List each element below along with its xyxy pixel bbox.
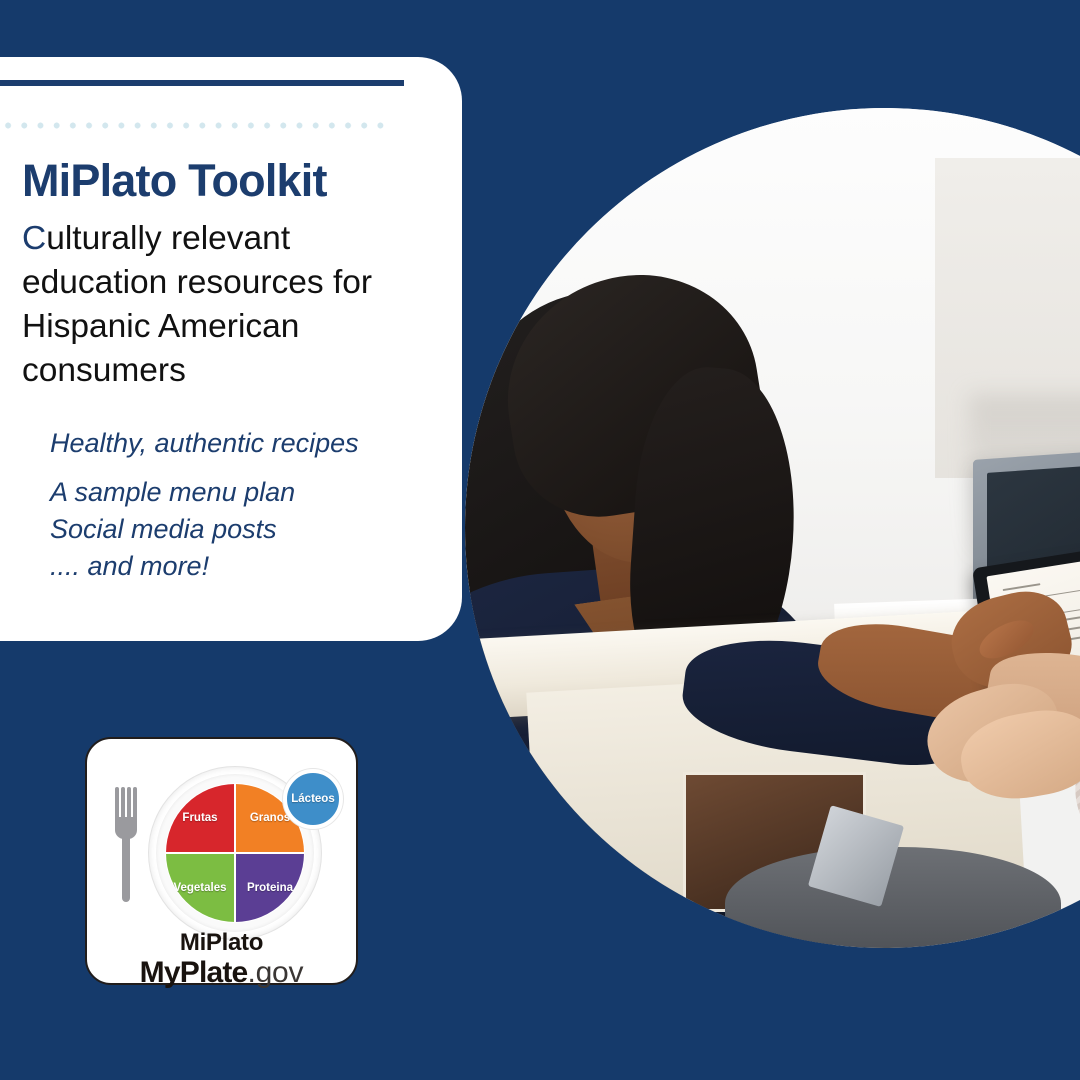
list-item: .... and more!	[50, 550, 450, 583]
logo-wordmark: MiPlato MyPlate.gov	[87, 931, 356, 988]
plate-section-dairy: Lácteos	[283, 769, 343, 829]
photo-circle	[465, 108, 1080, 948]
headline-card: MiPlato Toolkit Culturally relevant educ…	[0, 57, 462, 641]
poster-canvas: MiPlato Toolkit Culturally relevant educ…	[0, 0, 1080, 1080]
fork-icon	[113, 787, 139, 902]
myplate-logo-badge[interactable]: Frutas Granos Vegetales Proteina Lácteos…	[85, 737, 358, 985]
list-item: A sample menu plan	[50, 476, 450, 509]
card-top-rule	[0, 80, 404, 86]
subtitle-drop-cap: C	[22, 220, 46, 257]
wordmark-tld: .gov	[247, 956, 303, 989]
dotted-divider	[0, 121, 386, 130]
list-item: Social media posts	[50, 513, 450, 546]
wordmark-myplate: MyPlate.gov	[87, 958, 356, 988]
wordmark-miplato: MiPlato	[87, 931, 356, 955]
subtitle-text: ulturally relevant education resources f…	[22, 220, 372, 389]
page-subtitle: Culturally relevant education resources …	[22, 217, 437, 393]
page-title: MiPlato Toolkit	[22, 155, 327, 207]
photo-scene	[465, 108, 1080, 948]
list-item: Healthy, authentic recipes	[50, 427, 450, 460]
feature-list: Healthy, authentic recipes A sample menu…	[50, 427, 450, 583]
chair-seat	[725, 847, 1061, 948]
wordmark-myplate-text: MyPlate	[140, 956, 248, 989]
